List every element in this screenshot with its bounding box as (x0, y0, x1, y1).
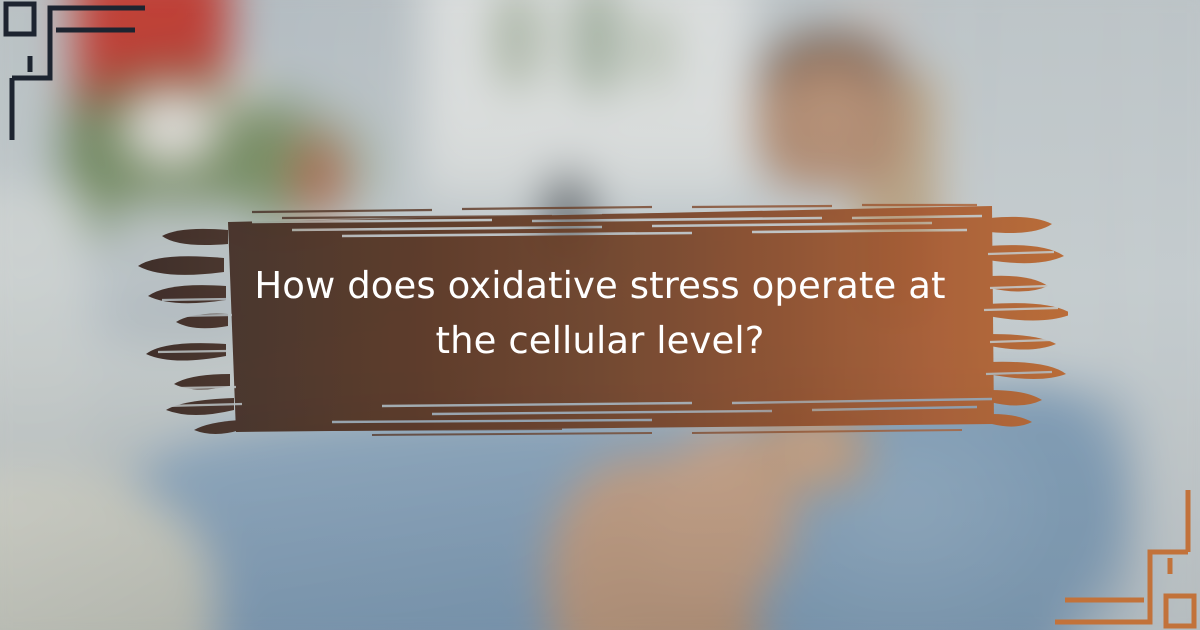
corner-ornament-top-left (0, 0, 200, 200)
page-title: How does oxidative stress operate at the… (250, 259, 950, 369)
brush-stroke-banner: How does oxidative stress operate at the… (132, 192, 1068, 442)
corner-ornament-tl-icon (0, 0, 200, 200)
corner-ornament-bottom-right (1000, 430, 1200, 630)
banner-text-block: How does oxidative stress operate at the… (132, 192, 1068, 442)
corner-ornament-br-icon (1000, 430, 1200, 630)
